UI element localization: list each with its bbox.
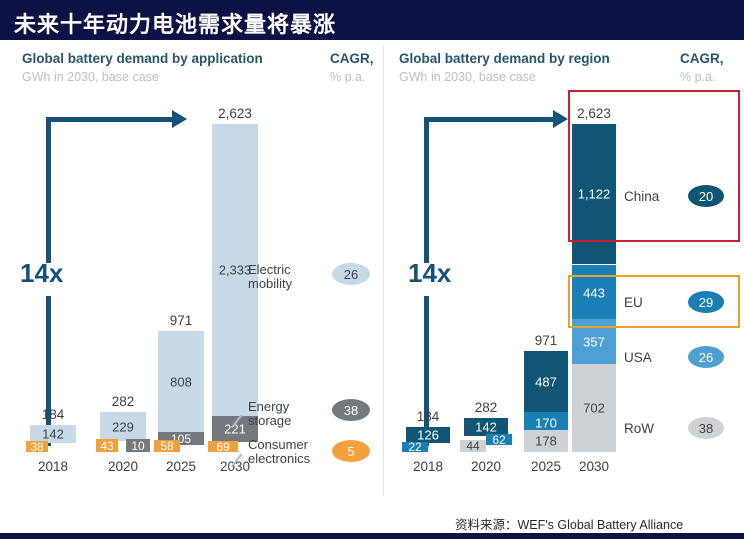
category-line-2: storage bbox=[248, 413, 291, 428]
segment-value: 808 bbox=[158, 375, 204, 388]
category-line-2: mobility bbox=[248, 276, 292, 291]
x-axis-label: 2018 bbox=[406, 459, 450, 474]
cagr-value: 5 bbox=[347, 444, 354, 459]
bar-total-label: 282 bbox=[100, 394, 146, 409]
category-line-1: Electric bbox=[248, 262, 291, 277]
left-chart-title: Global battery demand by application bbox=[22, 51, 263, 66]
bar-segment-em[interactable]: 808 bbox=[158, 331, 204, 432]
x-axis-label: 2020 bbox=[464, 459, 508, 474]
page-title: 未来十年动力电池需求量将暴涨 bbox=[14, 7, 336, 39]
x-axis-label: 2025 bbox=[158, 459, 204, 474]
category-label-consumer-electronics: Consumer electronics bbox=[248, 438, 310, 466]
cagr-value: 38 bbox=[344, 403, 358, 418]
right-chart-title: Global battery demand by region bbox=[399, 51, 610, 66]
bar-total-label: 184 bbox=[406, 409, 450, 424]
source-note: 资料来源：WEF's Global Battery Alliance bbox=[455, 514, 683, 533]
slide-root: 未来十年动力电池需求量将暴涨 Global battery demand by … bbox=[0, 0, 744, 539]
x-axis-label: 2025 bbox=[524, 459, 568, 474]
bar-segment-ce[interactable]: 38 bbox=[26, 441, 48, 452]
region-label-eu: EU bbox=[624, 295, 643, 310]
bar-segment-ce[interactable]: 58 bbox=[154, 440, 180, 452]
cagr-pill-china[interactable]: 20 bbox=[688, 185, 724, 207]
cagr-value: 26 bbox=[344, 267, 358, 282]
category-label-energy-storage: Energy storage bbox=[248, 400, 291, 428]
cagr-value: 29 bbox=[699, 295, 713, 310]
segment-value: 22 bbox=[402, 441, 428, 453]
bar-2025[interactable]: 808105589712025 bbox=[158, 331, 204, 452]
segment-value: 58 bbox=[154, 440, 180, 452]
region-label-usa: USA bbox=[624, 350, 652, 365]
bar-segment-eu[interactable]: 22 bbox=[402, 442, 428, 452]
panel-divider bbox=[383, 46, 384, 496]
bar-2018[interactable]: 142381842018 bbox=[30, 425, 76, 452]
bar-total-label: 971 bbox=[158, 313, 204, 328]
cagr-value: 38 bbox=[699, 421, 713, 436]
cagr-pill-eu[interactable]: 29 bbox=[688, 291, 724, 313]
segment-value: 38 bbox=[26, 441, 48, 453]
segment-value: 702 bbox=[572, 402, 616, 415]
left-cagr-subtitle: % p.a. bbox=[330, 70, 365, 84]
left-chart-plot: 1423818420182291043282202080810558971202… bbox=[12, 95, 257, 480]
segment-value: 44 bbox=[460, 440, 486, 452]
segment-value: 487 bbox=[524, 375, 568, 388]
cagr-pill-usa[interactable]: 26 bbox=[688, 346, 724, 368]
left-chart-subtitle: GWh in 2030, base case bbox=[22, 70, 159, 84]
bar-segment-row[interactable]: 44 bbox=[460, 440, 486, 452]
bar-2020[interactable]: 14262442822020 bbox=[464, 418, 508, 452]
cagr-pill-energy-storage[interactable]: 38 bbox=[332, 399, 370, 421]
bar-segment-eu[interactable]: 62 bbox=[486, 434, 512, 445]
segment-value: 170 bbox=[524, 416, 568, 429]
header-bar: 未来十年动力电池需求量将暴涨 bbox=[0, 0, 744, 40]
segment-value: 43 bbox=[96, 440, 118, 452]
bar-2020[interactable]: 22910432822020 bbox=[100, 412, 146, 452]
footer-bar bbox=[0, 533, 744, 539]
right-cagr-title: CAGR, bbox=[680, 51, 724, 66]
bar-segment-row[interactable]: 702 bbox=[572, 364, 616, 452]
left-cagr-title: CAGR, bbox=[330, 51, 374, 66]
bar-segment-em[interactable]: 229 bbox=[100, 412, 146, 441]
bar-segment-row[interactable]: 178 bbox=[524, 430, 568, 452]
region-label-china: China bbox=[624, 189, 659, 204]
segment-value: 357 bbox=[572, 335, 616, 348]
category-label-electric-mobility: Electric mobility bbox=[248, 263, 292, 291]
bar-2018[interactable]: 126221842018 bbox=[406, 427, 450, 452]
bar-segment-cn[interactable]: 487 bbox=[524, 351, 568, 412]
bar-total-label: 2,623 bbox=[212, 106, 258, 121]
x-axis-label: 2030 bbox=[572, 459, 616, 474]
category-line-2: electronics bbox=[248, 451, 310, 466]
bar-segment-ce[interactable]: 43 bbox=[96, 439, 118, 452]
segment-value: 178 bbox=[524, 435, 568, 448]
segment-value: 229 bbox=[100, 420, 146, 433]
bar-segment-es[interactable]: 10 bbox=[126, 439, 150, 452]
x-axis-label: 2020 bbox=[100, 459, 146, 474]
bar-total-label: 971 bbox=[524, 333, 568, 348]
bar-2025[interactable]: 4871701361789712025 bbox=[524, 351, 568, 452]
highlight-box-china bbox=[568, 90, 740, 242]
cagr-pill-consumer-electronics[interactable]: 5 bbox=[332, 440, 370, 462]
cagr-pill-row[interactable]: 38 bbox=[688, 417, 724, 439]
cagr-pill-electric-mobility[interactable]: 26 bbox=[332, 263, 370, 285]
cagr-value: 20 bbox=[699, 189, 713, 204]
category-line-1: Energy bbox=[248, 399, 289, 414]
right-cagr-subtitle: % p.a. bbox=[680, 70, 715, 84]
segment-value: 62 bbox=[486, 434, 512, 446]
segment-value: 69 bbox=[208, 441, 238, 453]
cagr-value: 26 bbox=[699, 350, 713, 365]
region-label-row: RoW bbox=[624, 421, 654, 436]
bar-segment-ce[interactable]: 69 bbox=[208, 441, 238, 452]
bar-total-label: 184 bbox=[30, 407, 76, 422]
category-line-1: Consumer bbox=[248, 437, 308, 452]
right-chart-subtitle: GWh in 2030, base case bbox=[399, 70, 536, 84]
x-axis-label: 2018 bbox=[30, 459, 76, 474]
bar-total-label: 282 bbox=[464, 400, 508, 415]
segment-value: 10 bbox=[126, 440, 150, 452]
